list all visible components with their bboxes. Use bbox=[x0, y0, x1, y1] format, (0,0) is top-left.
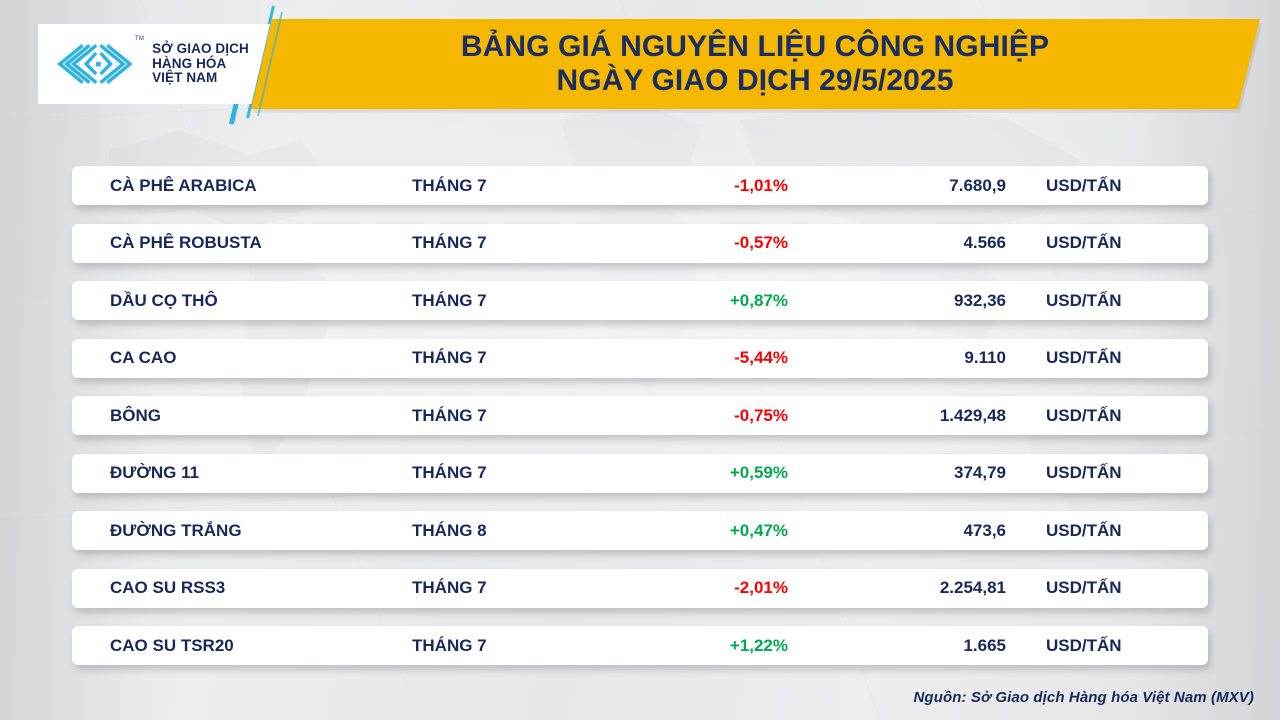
table-row[interactable]: ĐƯỜNG TRẮNGTHÁNG 8+0,47%473,6USD/TẤN bbox=[72, 511, 1208, 550]
table-row[interactable]: ĐƯỜNG 11THÁNG 7+0,59%374,79USD/TẤN bbox=[72, 454, 1208, 493]
change-percent: -0,75% bbox=[612, 406, 802, 426]
change-percent: +0,59% bbox=[612, 463, 802, 483]
price-unit: USD/TẤN bbox=[1012, 636, 1208, 656]
trademark-symbol: TM bbox=[135, 36, 144, 42]
table-row[interactable]: CA CAOTHÁNG 7-5,44%9.110USD/TẤN bbox=[72, 339, 1208, 378]
commodity-name: BÔNG bbox=[72, 406, 412, 426]
price-unit: USD/TẤN bbox=[1012, 406, 1208, 426]
contract-month: THÁNG 7 bbox=[412, 578, 612, 598]
price-unit: USD/TẤN bbox=[1012, 463, 1208, 483]
price-value: 1.429,48 bbox=[802, 406, 1012, 426]
price-value: 9.110 bbox=[802, 348, 1012, 368]
brand-logo-plate: TM SỞ GIAO DỊCH HÀNG HÓA VIỆT NAM bbox=[38, 24, 270, 104]
source-note: Nguồn: Sở Giao dịch Hàng hóa Việt Nam (M… bbox=[914, 689, 1255, 706]
price-unit: USD/TẤN bbox=[1012, 348, 1208, 368]
commodity-name: DẦU CỌ THÔ bbox=[72, 291, 412, 311]
change-percent: +0,47% bbox=[612, 521, 802, 541]
table-row[interactable]: DẦU CỌ THÔTHÁNG 7+0,87%932,36USD/TẤN bbox=[72, 281, 1208, 320]
table-row[interactable]: CÀ PHÊ ROBUSTATHÁNG 7-0,57%4.566USD/TẤN bbox=[72, 224, 1208, 263]
commodity-name: ĐƯỜNG TRẮNG bbox=[72, 521, 412, 541]
table-row[interactable]: CAO SU TSR20THÁNG 7+1,22%1.665USD/TẤN bbox=[72, 626, 1208, 665]
price-value: 374,79 bbox=[802, 463, 1012, 483]
price-unit: USD/TẤN bbox=[1012, 521, 1208, 541]
price-value: 2.254,81 bbox=[802, 578, 1012, 598]
price-unit: USD/TẤN bbox=[1012, 233, 1208, 253]
price-value: 932,36 bbox=[802, 291, 1012, 311]
title-main: BẢNG GIÁ NGUYÊN LIỆU CÔNG NGHIỆP bbox=[461, 30, 1049, 64]
change-percent: +0,87% bbox=[612, 291, 802, 311]
mxv-maze-logo-icon bbox=[54, 41, 132, 87]
price-unit: USD/TẤN bbox=[1012, 291, 1208, 311]
price-unit: USD/TẤN bbox=[1012, 176, 1208, 196]
price-value: 7.680,9 bbox=[802, 176, 1012, 196]
page-header: TM SỞ GIAO DỊCH HÀNG HÓA VIỆT NAM BẢNG G… bbox=[0, 0, 1280, 120]
change-percent: -5,44% bbox=[612, 348, 802, 368]
commodity-name: CÀ PHÊ ARABICA bbox=[72, 176, 412, 196]
contract-month: THÁNG 8 bbox=[412, 521, 612, 541]
contract-month: THÁNG 7 bbox=[412, 348, 612, 368]
brand-line-1: SỞ GIAO DỊCH bbox=[152, 42, 249, 56]
table-row[interactable]: BÔNGTHÁNG 7-0,75%1.429,48USD/TẤN bbox=[72, 396, 1208, 435]
brand-line-3: VIỆT NAM bbox=[152, 71, 249, 85]
commodity-name: CAO SU TSR20 bbox=[72, 636, 412, 656]
page-title: BẢNG GIÁ NGUYÊN LIỆU CÔNG NGHIỆP NGÀY GI… bbox=[300, 23, 1210, 105]
change-percent: +1,22% bbox=[612, 636, 802, 656]
price-value: 473,6 bbox=[802, 521, 1012, 541]
contract-month: THÁNG 7 bbox=[412, 463, 612, 483]
table-row[interactable]: CAO SU RSS3THÁNG 7-2,01%2.254,81USD/TẤN bbox=[72, 569, 1208, 608]
commodity-name: CAO SU RSS3 bbox=[72, 578, 412, 598]
contract-month: THÁNG 7 bbox=[412, 406, 612, 426]
title-subtitle: NGÀY GIAO DỊCH 29/5/2025 bbox=[557, 64, 954, 98]
contract-month: THÁNG 7 bbox=[412, 176, 612, 196]
brand-line-2: HÀNG HÓA bbox=[152, 57, 249, 71]
price-value: 1.665 bbox=[802, 636, 1012, 656]
commodity-name: ĐƯỜNG 11 bbox=[72, 463, 412, 483]
commodity-name: CA CAO bbox=[72, 348, 412, 368]
change-percent: -2,01% bbox=[612, 578, 802, 598]
change-percent: -0,57% bbox=[612, 233, 802, 253]
contract-month: THÁNG 7 bbox=[412, 233, 612, 253]
contract-month: THÁNG 7 bbox=[412, 291, 612, 311]
table-row[interactable]: CÀ PHÊ ARABICATHÁNG 7-1,01%7.680,9USD/TẤ… bbox=[72, 166, 1208, 205]
commodity-name: CÀ PHÊ ROBUSTA bbox=[72, 233, 412, 253]
brand-wordmark: SỞ GIAO DỊCH HÀNG HÓA VIỆT NAM bbox=[152, 42, 249, 85]
price-value: 4.566 bbox=[802, 233, 1012, 253]
commodity-price-table: CÀ PHÊ ARABICATHÁNG 7-1,01%7.680,9USD/TẤ… bbox=[72, 166, 1208, 684]
price-unit: USD/TẤN bbox=[1012, 578, 1208, 598]
change-percent: -1,01% bbox=[612, 176, 802, 196]
contract-month: THÁNG 7 bbox=[412, 636, 612, 656]
